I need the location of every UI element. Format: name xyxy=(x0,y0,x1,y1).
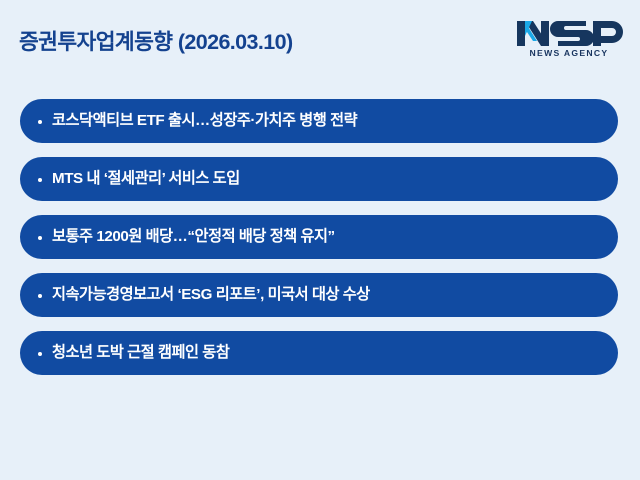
logo-tagline: NEWS AGENCY xyxy=(515,49,623,58)
headline-item-2[interactable]: MTS 내 ‘절세관리’ 서비스 도입 xyxy=(20,157,618,201)
headline-text: 지속가능경영보고서 ‘ESG 리포트’, 미국서 대상 수상 xyxy=(52,286,618,304)
headline-item-3[interactable]: 보통주 1200원 배당…“안정적 배당 정책 유지” xyxy=(20,215,618,259)
bullet-dot-icon xyxy=(38,352,42,356)
nsp-logo: NEWS AGENCY xyxy=(515,19,623,63)
bullet-dot-icon xyxy=(38,178,42,182)
headline-text: 청소년 도박 근절 캠페인 동참 xyxy=(52,344,618,362)
news-summary-slide: 증권투자업계동향 (2026.03.10) NEWS AGENCY xyxy=(0,0,640,480)
headline-text: MTS 내 ‘절세관리’ 서비스 도입 xyxy=(52,170,618,188)
headline-item-1[interactable]: 코스닥액티브 ETF 출시…성장주·가치주 병행 전략 xyxy=(20,99,618,143)
nsp-wordmark-icon xyxy=(515,19,623,48)
bullet-dot-icon xyxy=(38,120,42,124)
headline-item-5[interactable]: 청소년 도박 근절 캠페인 동참 xyxy=(20,331,618,375)
headline-text: 코스닥액티브 ETF 출시…성장주·가치주 병행 전략 xyxy=(52,112,618,130)
headline-text: 보통주 1200원 배당…“안정적 배당 정책 유지” xyxy=(52,228,618,246)
headline-item-4[interactable]: 지속가능경영보고서 ‘ESG 리포트’, 미국서 대상 수상 xyxy=(20,273,618,317)
bullet-dot-icon xyxy=(38,236,42,240)
page-title: 증권투자업계동향 (2026.03.10) xyxy=(19,30,293,55)
bullet-dot-icon xyxy=(38,294,42,298)
headline-list: 코스닥액티브 ETF 출시…성장주·가치주 병행 전략 MTS 내 ‘절세관리’… xyxy=(20,99,618,375)
slide-header: 증권투자업계동향 (2026.03.10) NEWS AGENCY xyxy=(0,0,640,86)
